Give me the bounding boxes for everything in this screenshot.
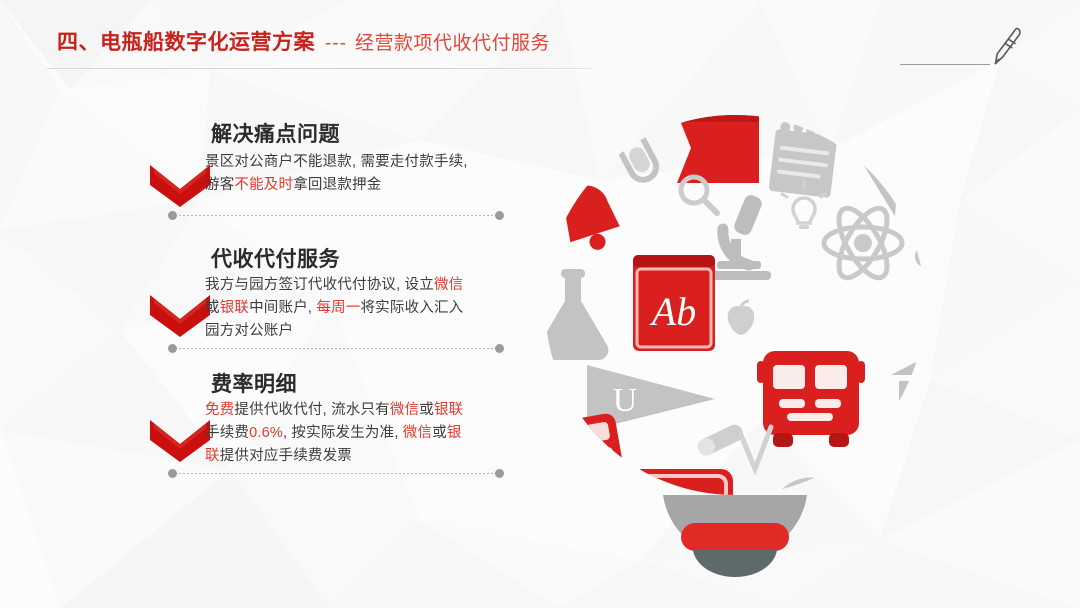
school-bus-icon — [757, 351, 865, 447]
title-subtitle-text: 经营款项代收代付服务 — [355, 28, 550, 55]
body-line: 联提供对应手续费发票 — [205, 445, 463, 468]
magnifier-icon — [914, 530, 925, 595]
atom-icon — [824, 201, 902, 285]
divider-dotted-line — [179, 473, 493, 474]
divider-dot-right — [495, 469, 504, 478]
block-heading: 费率明细 — [211, 368, 297, 398]
divider-dotted-line — [179, 348, 493, 349]
svg-text:U: U — [613, 382, 638, 419]
test-tube-small-icon — [922, 509, 925, 576]
body-line: 游客不能及时拿回退款押金 — [205, 174, 468, 197]
body-line: 景区对公商户不能退款, 需要走付款手续, — [205, 151, 468, 174]
ruler-icon — [886, 385, 925, 523]
chevron-down-icon — [150, 418, 210, 467]
block-divider — [168, 344, 504, 353]
divider-dot-left — [168, 469, 177, 478]
chalk-icon — [890, 467, 905, 509]
checkmark-icon — [741, 427, 771, 469]
slide-canvas: 四、电瓶船数字化运营方案 --- 经营款项代收代付服务 解决痛点问题 — [0, 0, 1080, 608]
title-dash-separator: --- — [325, 33, 347, 55]
title-main-text: 四、电瓶船数字化运营方案 — [57, 26, 315, 56]
palette-small-icon — [915, 245, 925, 275]
block-body-text: 我方与园方签订代收代付协议, 设立微信 或银联中间账户, 每周一将实际收入汇入 … — [205, 274, 463, 343]
chevron-down-icon — [150, 163, 210, 212]
svg-text:Ab: Ab — [649, 289, 696, 334]
flask-icon — [545, 269, 608, 360]
body-line: 我方与园方签订代收代付协议, 设立微信 — [205, 274, 463, 297]
test-tube-icon — [597, 101, 665, 187]
ab-book-icon: Ab — [633, 255, 715, 351]
bulb-base — [663, 495, 807, 577]
divider-dot-right — [495, 211, 504, 220]
title-underline-rule — [47, 68, 593, 69]
lightbulb-education-icons: Ab U — [545, 95, 925, 595]
body-line: 手续费0.6%, 按实际发生为准, 微信或银 — [205, 422, 463, 445]
eraser-icon — [695, 422, 746, 458]
divider-dot-left — [168, 211, 177, 220]
block-heading: 解决痛点问题 — [211, 118, 340, 148]
set-square-icon — [847, 141, 899, 205]
divider-dot-left — [168, 344, 177, 353]
body-line: 或银联中间账户, 每周一将实际收入汇入 — [205, 297, 463, 320]
page-title: 四、电瓶船数字化运营方案 --- 经营款项代收代付服务 — [57, 26, 550, 56]
block-divider — [168, 211, 504, 220]
body-line: 园方对公账户 — [205, 320, 463, 343]
chevron-down-icon — [150, 293, 210, 342]
bell-icon — [553, 173, 625, 258]
apple-small-icon — [728, 301, 755, 335]
block-divider — [168, 469, 504, 478]
body-line: 免费提供代收代付, 流水只有微信或银联 — [205, 399, 463, 422]
divider-dotted-line — [179, 215, 493, 216]
block-body-text: 景区对公商户不能退款, 需要走付款手续, 游客不能及时拿回退款押金 — [205, 151, 468, 197]
calculator-icon — [545, 412, 631, 519]
apple-icon — [850, 545, 912, 595]
bank-icon — [889, 345, 925, 448]
block-heading: 代收代付服务 — [211, 243, 340, 273]
block-body-text: 免费提供代收代付, 流水只有微信或银联 手续费0.6%, 按实际发生为准, 微信… — [205, 399, 463, 468]
pen-baseline-rule — [900, 64, 990, 65]
red-flag-book-icon — [677, 113, 759, 183]
pen-signature-icon — [986, 22, 1028, 75]
divider-dot-right — [495, 344, 504, 353]
microscope-icon — [709, 193, 771, 280]
